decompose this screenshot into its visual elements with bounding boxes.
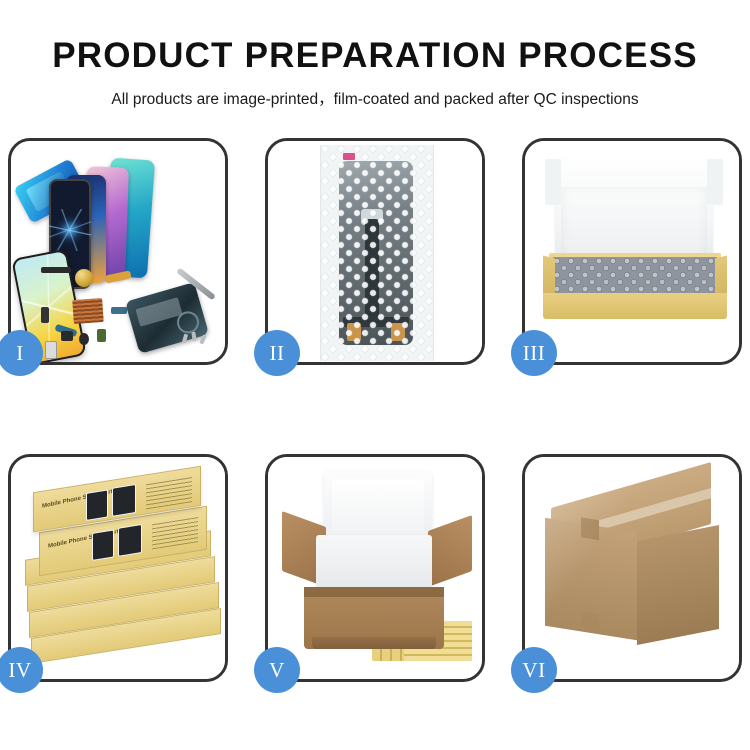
- part-bar: [41, 267, 71, 273]
- step-badge-3: III: [511, 330, 557, 376]
- step-6-image: [525, 457, 739, 679]
- carton-side-face: [637, 525, 719, 645]
- box-product-image-b: [118, 524, 142, 557]
- screen-crack-pattern: [55, 215, 85, 245]
- carton-front-face: [545, 518, 637, 641]
- kraft-box-tray: [543, 257, 727, 319]
- step-badge-4: IV: [0, 647, 43, 693]
- step-panel-2: II: [265, 138, 485, 365]
- part-chip-2: [79, 333, 89, 345]
- part-chip-3: [97, 329, 106, 342]
- carton-seal-bottom: [581, 611, 599, 630]
- product-preparation-infographic: PRODUCT PREPARATION PROCESS All products…: [0, 0, 750, 750]
- step-3-image: [525, 141, 739, 362]
- copper-mesh-part: [72, 298, 104, 324]
- foam-tab-right: [707, 159, 723, 205]
- foam-insert: [316, 535, 432, 591]
- step-panel-5: V: [265, 454, 485, 682]
- part-chip-5: [45, 341, 57, 359]
- bubble-wrapped-contents: [553, 257, 717, 297]
- step-badge-2: II: [254, 330, 300, 376]
- page-title: PRODUCT PREPARATION PROCESS: [0, 38, 750, 73]
- part-chip-4: [111, 307, 127, 314]
- carton-body: [304, 587, 444, 649]
- pink-qc-label: [343, 153, 355, 160]
- foam-box-lid: [324, 471, 432, 541]
- step-4-image: Mobile Phone Spare Parts Mobile Phone Sp…: [11, 457, 225, 679]
- steps-grid: I II: [0, 132, 750, 692]
- step-1-image: [11, 141, 225, 362]
- box-product-image-c: [86, 489, 108, 520]
- box-front-face: [543, 293, 727, 319]
- bubble-texture: [321, 145, 433, 361]
- step-badge-6: VI: [511, 647, 557, 693]
- step-5-image: [268, 457, 482, 679]
- screws-group: [183, 332, 209, 344]
- carton-flap-right: [428, 515, 472, 587]
- step-panel-4: Mobile Phone Spare Parts Mobile Phone Sp…: [8, 454, 228, 682]
- step-badge-5: V: [254, 647, 300, 693]
- box-product-image-d: [112, 484, 136, 517]
- box-spec-lines-1: [146, 476, 192, 509]
- header: PRODUCT PREPARATION PROCESS All products…: [0, 0, 750, 109]
- kraft-box-stack: Mobile Phone Spare Parts Mobile Phone Sp…: [17, 473, 223, 669]
- step-panel-3: III: [522, 138, 742, 365]
- step-panel-6: VI: [522, 454, 742, 682]
- foam-tab-left: [545, 159, 561, 205]
- step-2-image: [268, 141, 482, 362]
- box-product-image-a: [92, 529, 114, 560]
- box-spec-lines-2: [152, 516, 198, 549]
- foam-lid: [555, 155, 713, 263]
- step-panel-1: I: [8, 138, 228, 365]
- part-chip-1: [61, 331, 73, 341]
- page-subtitle: All products are image-printed，film-coat…: [0, 87, 750, 109]
- step-badge-1: I: [0, 330, 43, 376]
- bubble-wrap-bag: [320, 145, 434, 361]
- speaker-part: [75, 269, 93, 287]
- part-chip-6: [41, 307, 49, 323]
- carton-seal-top: [581, 517, 599, 540]
